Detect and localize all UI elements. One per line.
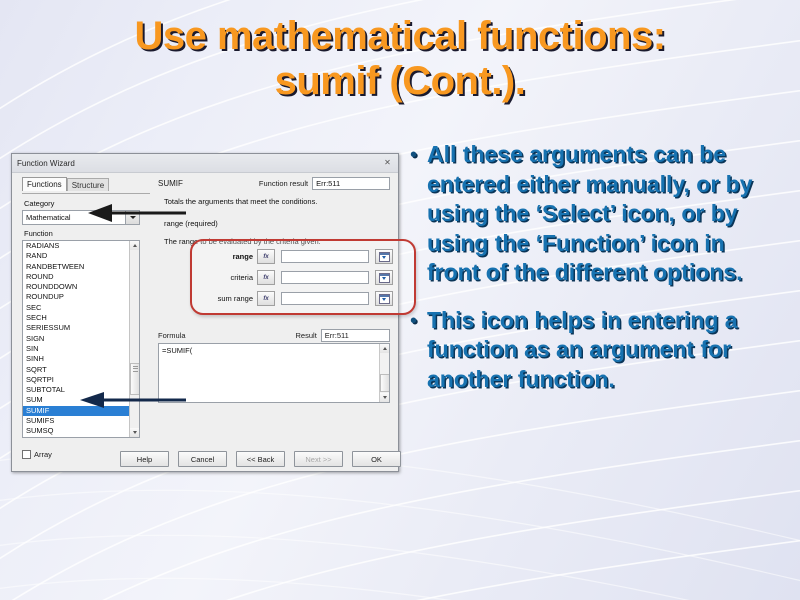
dialog-body: Functions Structure Category Mathematica… (12, 173, 398, 471)
list-item[interactable]: SIN (23, 344, 130, 354)
list-item[interactable]: SUMSQ (23, 426, 130, 436)
arrow-to-sumif (62, 390, 188, 410)
function-description: Totals the arguments that meet the condi… (164, 197, 390, 206)
argument-input-sum-range[interactable] (281, 292, 369, 305)
array-checkbox-label: Array (34, 450, 52, 459)
select-range-icon[interactable] (375, 270, 393, 285)
formula-label: Formula (158, 331, 186, 340)
list-item[interactable]: SECH (23, 313, 130, 323)
argument-row-criteria: criteria fx (203, 270, 403, 285)
function-result-label: Function result (259, 179, 308, 188)
argument-input-range[interactable] (281, 250, 369, 263)
function-name-heading: SUMIF (158, 179, 183, 188)
scroll-up-icon[interactable] (130, 241, 139, 250)
argument-label-sum-range: sum range (203, 294, 257, 303)
formula-scrollbar[interactable] (379, 344, 389, 402)
list-item[interactable]: SEC (23, 303, 130, 313)
slide-canvas: Use mathematical functions: sumif (Cont.… (0, 0, 800, 600)
bullet-item-1: • All these arguments can be entered eit… (410, 140, 780, 288)
bullet-item-2: • This icon helps in entering a function… (410, 306, 780, 395)
bullet-list: • All these arguments can be entered eit… (410, 140, 780, 412)
result-label: Result (296, 331, 317, 340)
argument-input-criteria[interactable] (281, 271, 369, 284)
formula-header-row: Formula Result Err:511 (158, 329, 390, 342)
dialog-titlebar[interactable]: Function Wizard ✕ (12, 154, 398, 173)
array-checkbox[interactable] (22, 450, 31, 459)
argument-row-sum-range: sum range fx (203, 291, 403, 306)
list-item[interactable]: ROUNDUP (23, 292, 130, 302)
list-item[interactable]: SQRTPI (23, 375, 130, 385)
dialog-button-row: Help Cancel << Back Next >> OK (120, 451, 401, 467)
list-item[interactable]: SINH (23, 354, 130, 364)
function-icon[interactable]: fx (257, 291, 275, 306)
function-icon[interactable]: fx (257, 249, 275, 264)
function-icon[interactable]: fx (257, 270, 275, 285)
argument-label-range: range (203, 252, 257, 261)
slide-title-line-2: sumif (Cont.). (40, 59, 760, 104)
slide-title: Use mathematical functions: sumif (Cont.… (40, 14, 760, 104)
list-item[interactable]: RAND (23, 251, 130, 261)
category-selected-value: Mathematical (23, 213, 71, 222)
argument-title: range (required) (164, 219, 390, 228)
close-icon[interactable]: ✕ (382, 158, 393, 168)
bullet-text-1: All these arguments can be entered eithe… (427, 140, 780, 288)
list-item[interactable]: SQRT (23, 365, 130, 375)
tab-functions[interactable]: Functions (22, 177, 67, 191)
ok-button[interactable]: OK (352, 451, 401, 467)
array-checkbox-row[interactable]: Array (22, 450, 52, 459)
formula-text: =SUMIF( (159, 344, 389, 355)
arguments-highlight-box: range fx criteria fx (190, 239, 416, 315)
scrollbar-thumb[interactable] (380, 374, 390, 392)
list-item[interactable]: SIGN (23, 334, 130, 344)
back-button[interactable]: << Back (236, 451, 285, 467)
list-item[interactable]: RANDBETWEEN (23, 262, 130, 272)
slide-title-line-1: Use mathematical functions: (40, 14, 760, 59)
argument-row-range: range fx (203, 249, 403, 264)
result-value: Err:511 (321, 329, 390, 342)
function-result-value: Err:511 (312, 177, 390, 190)
function-list-label: Function (24, 229, 150, 238)
next-button: Next >> (294, 451, 343, 467)
scroll-down-icon[interactable] (380, 393, 389, 402)
bullet-text-2: This icon helps in entering a function a… (427, 306, 780, 395)
list-item[interactable]: SERIESSUM (23, 323, 130, 333)
function-wizard-dialog: Function Wizard ✕ Functions Structure Ca… (11, 153, 399, 472)
tab-structure[interactable]: Structure (67, 178, 109, 191)
list-item[interactable]: SUMIFS (23, 416, 130, 426)
list-item[interactable]: ROUNDDOWN (23, 282, 130, 292)
dialog-tabstrip: Functions Structure (22, 177, 109, 191)
arguments-right-panel: SUMIF Function result Err:511 Totals the… (158, 177, 390, 246)
select-range-icon[interactable] (375, 291, 393, 306)
formula-textarea[interactable]: =SUMIF( (158, 343, 390, 403)
list-item[interactable]: ROUND (23, 272, 130, 282)
scroll-down-icon[interactable] (130, 428, 139, 437)
bullet-marker-icon: • (410, 140, 427, 170)
argument-label-criteria: criteria (203, 273, 257, 282)
arrow-to-category (78, 202, 188, 224)
list-item[interactable]: RADIANS (23, 241, 130, 251)
select-range-icon[interactable] (375, 249, 393, 264)
cancel-button[interactable]: Cancel (178, 451, 227, 467)
function-header-row: SUMIF Function result Err:511 (158, 177, 390, 190)
help-button[interactable]: Help (120, 451, 169, 467)
scroll-up-icon[interactable] (380, 344, 389, 353)
dialog-title: Function Wizard (17, 159, 75, 168)
tabstrip-divider (22, 193, 150, 194)
